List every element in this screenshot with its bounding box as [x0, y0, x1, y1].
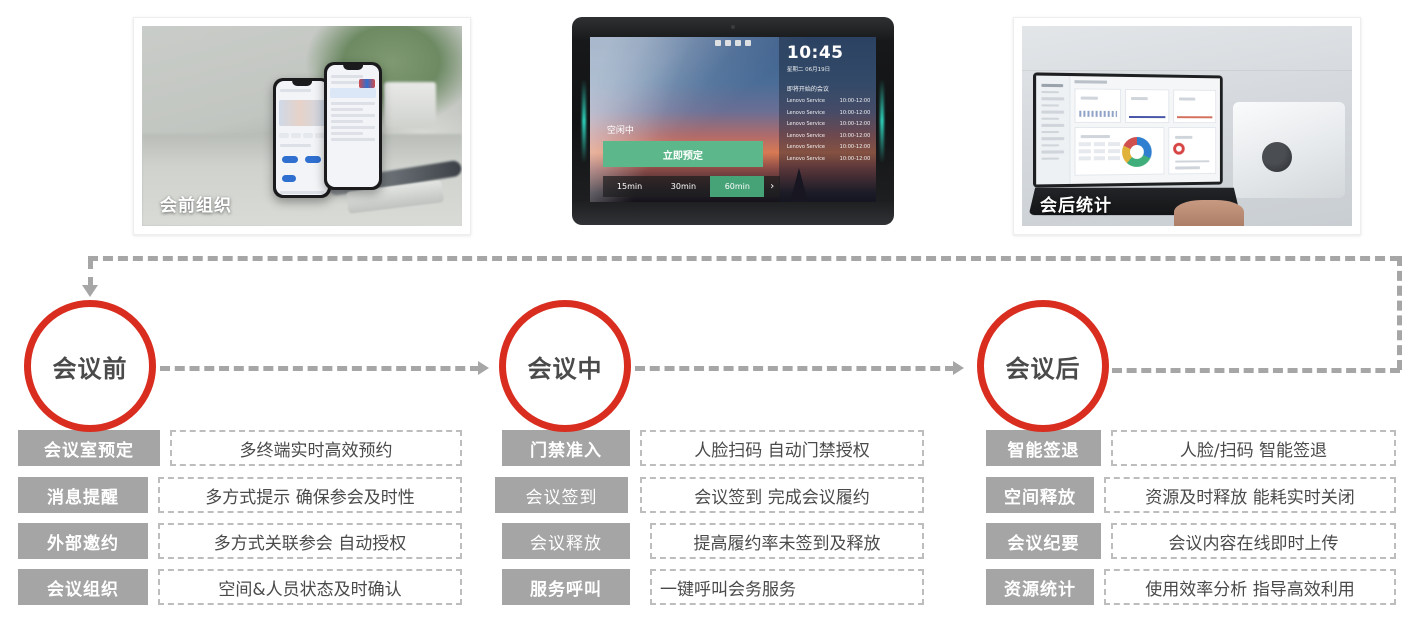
feature-value: 多方式提示 确保参会及时性 [158, 477, 462, 513]
meeting-time: 10:00-12:00 [840, 98, 871, 104]
tablet-duration-bar: 15min 30min 60min › [603, 176, 781, 197]
tablet-meeting-item: Lenovo Service 10:00-12:00 [787, 121, 870, 127]
feedback-loop-bottom-segment [1112, 368, 1400, 373]
stage-label-before: 会议前 [53, 349, 128, 384]
feature-row: 会议内容在线即时上传 会议纪要 [986, 523, 1396, 559]
stage-circle-after[interactable]: 会议后 [977, 300, 1109, 432]
slide-root: 会前组织 10:45 星期二 06月19日 即将开始的 [0, 0, 1423, 633]
feature-row: 人脸/扫码 智能签退 智能签退 [986, 430, 1396, 466]
donut-chart-icon [1122, 137, 1152, 167]
feature-row: 使用效率分析 指导高效利用 资源统计 [986, 569, 1396, 605]
pre-meeting-photo-card: 会前组织 [133, 17, 471, 235]
feature-key[interactable]: 资源统计 [986, 569, 1094, 605]
feature-value: 使用效率分析 指导高效利用 [1104, 569, 1396, 605]
meeting-time: 10:00-12:00 [840, 144, 871, 150]
feature-row: 空间&人员状态及时确认 会议组织 [18, 569, 444, 605]
feedback-loop-top-segment [88, 256, 1400, 261]
meeting-name: Lenovo Service [787, 110, 825, 116]
post-meeting-caption: 会后统计 [1040, 191, 1112, 216]
feature-row: 多方式关联参会 自动授权 外部邀约 [18, 523, 444, 559]
phone-back [324, 62, 382, 190]
feature-row: 一键呼叫会务服务 服务呼叫 [502, 569, 924, 605]
tablet-meeting-item: Lenovo Service 10:00-12:00 [787, 156, 870, 162]
tablet-clock: 10:45 [787, 45, 870, 62]
tablet-meeting-item: Lenovo Service 10:00-12:00 [787, 144, 870, 150]
feedback-loop-arrowhead [82, 285, 98, 297]
tablet-upcoming-title: 即将开始的会议 [787, 84, 870, 93]
feature-key[interactable]: 消息提醒 [18, 477, 148, 513]
feature-value: 多方式关联参会 自动授权 [158, 523, 462, 559]
meeting-name: Lenovo Service [787, 121, 825, 127]
alert-ring-icon [1173, 142, 1185, 154]
feature-key[interactable]: 智能签退 [986, 430, 1101, 466]
meeting-time: 10:00-12:00 [840, 121, 871, 127]
meeting-time: 10:00-12:00 [840, 110, 871, 116]
signal-icon [715, 40, 721, 46]
post-meeting-photo-card: 会后统计 [1013, 17, 1361, 235]
stage-label-after: 会议后 [1006, 349, 1081, 384]
in-meeting-photo-card: 10:45 星期二 06月19日 即将开始的会议 Lenovo Service … [572, 17, 894, 225]
feature-row: 会议签到 完成会议履约 会议签到 [495, 477, 924, 513]
feature-value: 空间&人员状态及时确认 [158, 569, 462, 605]
feature-key[interactable]: 会议组织 [18, 569, 148, 605]
feedback-loop-right-segment [1397, 256, 1402, 370]
duration-option-30min[interactable]: 30min [656, 182, 710, 191]
battery-icon [735, 40, 741, 46]
connector-arrowhead-during [478, 361, 489, 375]
pre-meeting-caption: 会前组织 [160, 191, 232, 216]
tablet-agenda-panel: 10:45 星期二 06月19日 即将开始的会议 Lenovo Service … [779, 37, 876, 202]
feature-key[interactable]: 会议释放 [502, 523, 630, 559]
tablet-meeting-item: Lenovo Service 10:00-12:00 [787, 110, 870, 116]
feature-key[interactable]: 服务呼叫 [502, 569, 630, 605]
feature-value: 一键呼叫会务服务 [650, 569, 924, 605]
feature-key[interactable]: 会议室预定 [18, 430, 160, 466]
meeting-name: Lenovo Service [787, 156, 825, 162]
feature-key[interactable]: 门禁准入 [502, 430, 630, 466]
feature-value: 会议签到 完成会议履约 [640, 477, 924, 513]
feature-row: 多方式提示 确保参会及时性 消息提醒 [18, 477, 444, 513]
feature-key[interactable]: 外部邀约 [18, 523, 148, 559]
tablet-meeting-item: Lenovo Service 10:00-12:00 [787, 98, 870, 104]
tablet-meeting-item: Lenovo Service 10:00-12:00 [787, 133, 870, 139]
post-meeting-photo-image: 会后统计 [1022, 26, 1352, 226]
phone-front [273, 78, 331, 198]
connector-arrowhead-after [953, 361, 964, 375]
feature-key[interactable]: 会议纪要 [986, 523, 1101, 559]
feature-value: 人脸扫码 自动门禁授权 [640, 430, 924, 466]
feature-key[interactable]: 会议签到 [495, 477, 628, 513]
meeting-time: 10:00-12:00 [840, 133, 871, 139]
meeting-name: Lenovo Service [787, 98, 825, 104]
feature-row: 资源及时释放 能耗实时关闭 空间释放 [986, 477, 1396, 513]
feature-key[interactable]: 空间释放 [986, 477, 1094, 513]
meeting-name: Lenovo Service [787, 133, 825, 139]
lock-icon [745, 40, 751, 46]
pre-meeting-photo-image: 会前组织 [142, 26, 462, 226]
tablet-room-status: 空闲中 [607, 123, 634, 136]
stage-circle-during[interactable]: 会议中 [499, 300, 631, 432]
tablet-statusbar [590, 40, 877, 46]
feature-row: 人脸扫码 自动门禁授权 门禁准入 [502, 430, 924, 466]
meeting-name: Lenovo Service [787, 144, 825, 150]
feedback-loop-down-segment [88, 259, 93, 287]
feature-value: 提高履约率未签到及释放 [650, 523, 924, 559]
feature-row: 多终端实时高效预约 会议室预定 [18, 430, 444, 466]
meeting-time: 10:00-12:00 [840, 156, 871, 162]
tablet-book-now-button[interactable]: 立即预定 [603, 141, 763, 167]
laptop-device [1033, 72, 1223, 187]
feature-value: 多终端实时高效预约 [170, 430, 462, 466]
feature-row: 提高履约率未签到及释放 会议释放 [502, 523, 924, 559]
stage-circle-before[interactable]: 会议前 [24, 300, 156, 432]
wifi-icon [725, 40, 731, 46]
in-meeting-photo-image: 10:45 星期二 06月19日 即将开始的会议 Lenovo Service … [572, 17, 894, 225]
connector-before-to-during [160, 366, 480, 371]
connector-during-to-after [635, 366, 955, 371]
duration-option-60min[interactable]: 60min [710, 176, 764, 197]
tablet-date: 星期二 06月19日 [787, 65, 870, 73]
stage-label-during: 会议中 [528, 349, 603, 384]
feature-value: 会议内容在线即时上传 [1111, 523, 1396, 559]
chevron-right-icon[interactable]: › [764, 181, 780, 192]
feature-value: 人脸/扫码 智能签退 [1111, 430, 1396, 466]
duration-option-15min[interactable]: 15min [603, 182, 657, 191]
feature-value: 资源及时释放 能耗实时关闭 [1104, 477, 1396, 513]
